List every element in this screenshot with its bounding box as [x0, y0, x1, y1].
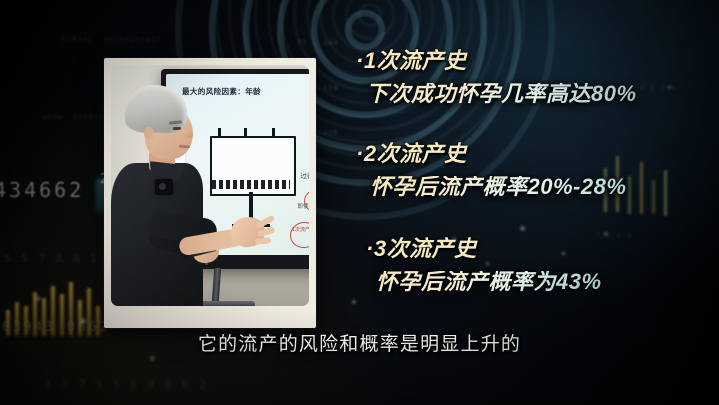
presenter-photo-card: 最大的风险因素：年龄 ↺	[104, 58, 316, 328]
point-block-1: ·1次流产史 下次成功怀孕几率高达80%	[356, 50, 637, 105]
presenter-eye	[173, 127, 181, 131]
point-block-3: ·3次流产史 怀孕后流产概率为43%	[366, 238, 602, 293]
presenter-hair	[125, 85, 187, 133]
presenter-nose	[184, 129, 193, 138]
point-block-2: ·2次流产史 怀孕后流产概率20%-28%	[356, 143, 626, 198]
point-3-heading: ·3次流产史	[366, 238, 602, 260]
point-1-heading: ·1次流产史	[356, 50, 637, 72]
presenter	[111, 83, 215, 306]
whiteboard-pin	[272, 128, 275, 136]
whiteboard-pin	[244, 128, 247, 136]
lapel-microphone	[155, 179, 173, 195]
photo-image: 最大的风险因素：年龄 ↺	[111, 65, 309, 306]
slide-text-line-1: 过往流	[301, 170, 310, 180]
whiteboard-tray	[212, 180, 290, 189]
subtitle-caption: 它的流产的风险和概率是明显上升的	[0, 329, 719, 356]
point-2-heading: ·2次流产史	[356, 143, 626, 165]
presenter-ear	[144, 127, 154, 140]
point-2-detail: 怀孕后流产概率20%-28%	[370, 176, 626, 198]
video-frame: f7 144 f3 120 f4 215 SERIAL 00000132817 …	[0, 0, 719, 405]
point-3-detail: 怀孕后流产概率为43%	[376, 271, 602, 293]
slide-annotation-circle	[288, 219, 309, 250]
point-1-detail: 下次成功怀孕几率高达80%	[366, 83, 637, 105]
whiteboard-pin	[218, 128, 221, 136]
